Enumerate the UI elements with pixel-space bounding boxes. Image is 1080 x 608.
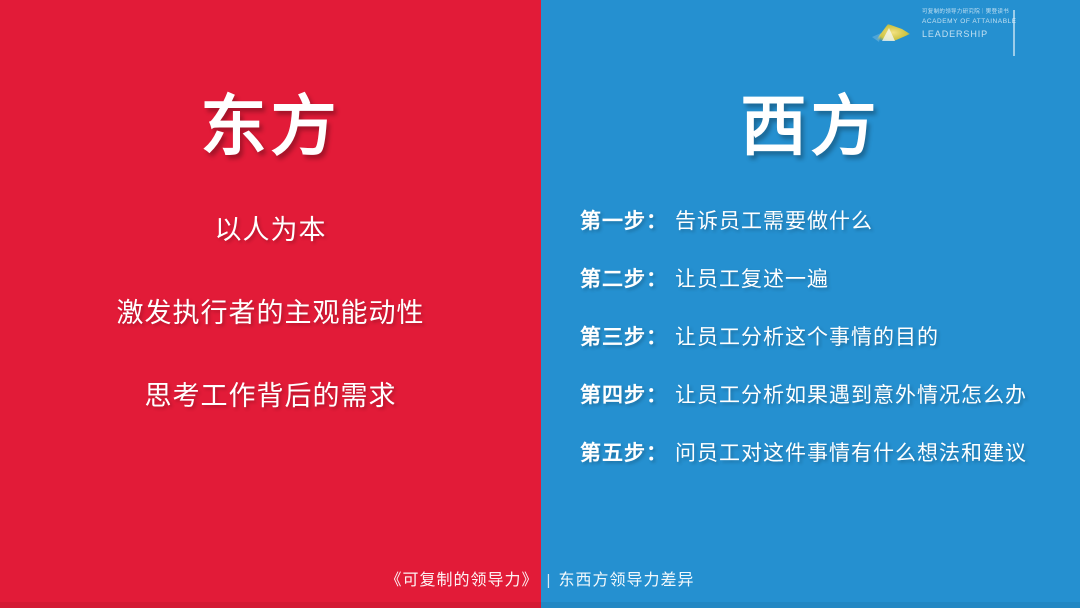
step-text: 让员工分析这个事情的目的 xyxy=(675,321,939,351)
step-label: 第二步： xyxy=(580,263,668,293)
logo-vertical-divider xyxy=(1013,10,1015,56)
left-principle-line: 思考工作背后的需求 xyxy=(0,381,541,412)
logo-text-block: 可复制的领导力研究院｜樊登读书 ACADEMY OF ATTAINABLE LE… xyxy=(922,8,1042,42)
step-label: 第五步： xyxy=(580,437,668,467)
step-label: 第一步： xyxy=(580,205,668,235)
left-principle-line: 以人为本 xyxy=(0,215,541,246)
step-text: 让员工分析如果遇到意外情况怎么办 xyxy=(675,379,1027,409)
logo-swoosh-icon xyxy=(872,20,916,46)
right-steps-list: 第一步： 告诉员工需要做什么 第二步： 让员工复述一遍 第三步： 让员工分析这个… xyxy=(580,205,1050,495)
step-row: 第二步： 让员工复述一遍 xyxy=(580,263,1050,293)
step-row: 第四步： 让员工分析如果遇到意外情况怎么办 xyxy=(580,379,1050,409)
right-panel-title: 西方 xyxy=(541,93,1080,159)
right-bottom-strip xyxy=(541,602,1080,608)
slide-canvas: 东方 西方 以人为本 激发执行者的主观能动性 思考工作背后的需求 第一步： 告诉… xyxy=(0,0,1080,608)
logo-english-line-2: LEADERSHIP xyxy=(922,27,1042,41)
step-row: 第五步： 问员工对这件事情有什么想法和建议 xyxy=(580,437,1050,467)
logo-english-line-1: ACADEMY OF ATTAINABLE xyxy=(922,16,1042,27)
left-principles-list: 以人为本 激发执行者的主观能动性 思考工作背后的需求 xyxy=(0,215,541,464)
left-bottom-strip xyxy=(0,602,541,608)
step-text: 问员工对这件事情有什么想法和建议 xyxy=(675,437,1027,467)
step-row: 第一步： 告诉员工需要做什么 xyxy=(580,205,1050,235)
step-text: 让员工复述一遍 xyxy=(675,263,829,293)
step-text: 告诉员工需要做什么 xyxy=(675,205,873,235)
step-label: 第三步： xyxy=(580,321,668,351)
step-label: 第四步： xyxy=(580,379,668,409)
left-principle-line: 激发执行者的主观能动性 xyxy=(0,298,541,329)
left-panel-title: 东方 xyxy=(0,93,541,159)
logo-chinese-name: 可复制的领导力研究院｜樊登读书 xyxy=(922,8,1042,16)
step-row: 第三步： 让员工分析这个事情的目的 xyxy=(580,321,1050,351)
brand-logo: 可复制的领导力研究院｜樊登读书 ACADEMY OF ATTAINABLE LE… xyxy=(872,8,1072,58)
